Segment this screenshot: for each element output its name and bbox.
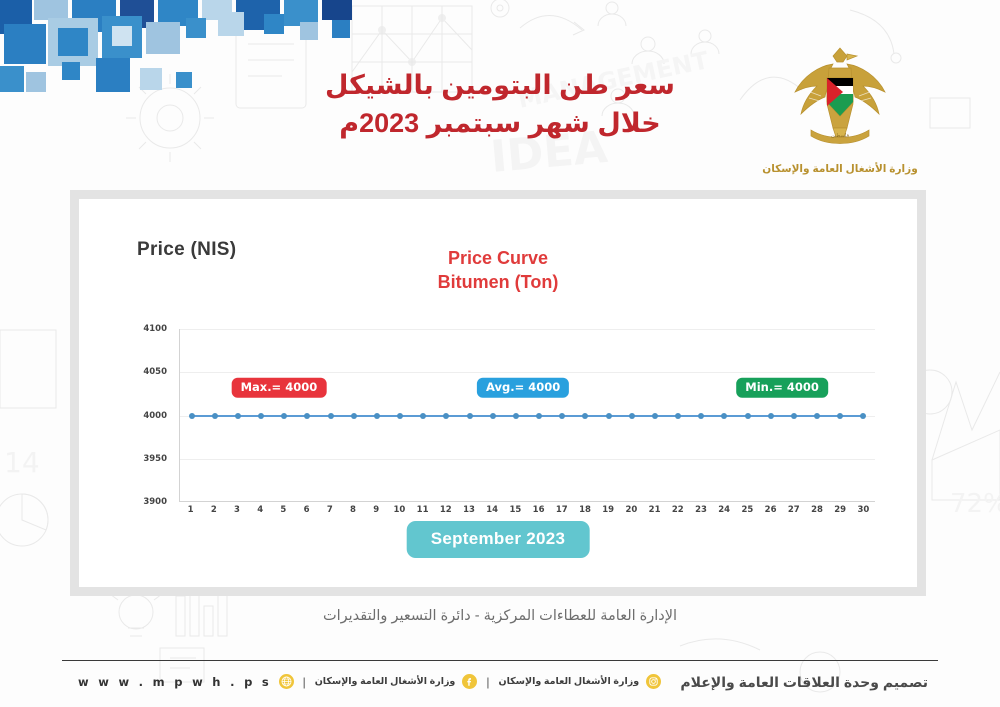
y-axis-tick-labels: 39003950400040504100 [135,329,171,502]
svg-text:72%: 72% [950,489,1000,519]
chart-title: Price Curve Bitumen (Ton) [79,247,917,295]
y-tick-3900: 3900 [143,497,167,507]
facebook-icon[interactable] [462,674,477,689]
x-tick-1: 1 [188,505,194,515]
data-point-20[interactable] [629,413,635,419]
badge-avg: Avg.= 4000 [477,377,569,398]
data-point-30[interactable] [860,413,866,419]
data-point-23[interactable] [698,413,704,419]
instagram-icon[interactable] [646,674,661,689]
website-url[interactable]: w w w . m p w h . p s [78,675,272,689]
badge-max: Max.= 4000 [232,377,327,398]
x-tick-23: 23 [695,505,707,515]
x-tick-9: 9 [373,505,379,515]
data-point-19[interactable] [606,413,612,419]
x-tick-19: 19 [602,505,614,515]
data-point-17[interactable] [559,413,565,419]
x-tick-8: 8 [350,505,356,515]
gridline-3950 [180,459,875,460]
y-tick-4000: 4000 [143,411,167,421]
chart-card: Price (NIS) Price Curve Bitumen (Ton) 39… [70,190,926,596]
page-footer: w w w . m p w h . p s | وزارة الأشغال ال… [0,660,1000,707]
data-point-9[interactable] [374,413,380,419]
facebook-glyph [464,676,475,687]
chart-card-inner: Price (NIS) Price Curve Bitumen (Ton) 39… [79,199,917,587]
globe-icon[interactable] [279,674,294,689]
globe-glyph [281,676,292,687]
x-tick-15: 15 [509,505,521,515]
y-tick-3950: 3950 [143,454,167,464]
plot-area [179,329,875,502]
data-point-8[interactable] [351,413,357,419]
footer-separator-2: | [484,675,491,689]
page-title: سعر طن البتومين بالشيكل خلال شهر سبتمبر … [300,66,700,143]
chart-title-line-1: Price Curve [79,247,917,271]
x-tick-6: 6 [304,505,310,515]
data-point-29[interactable] [837,413,843,419]
x-tick-22: 22 [672,505,684,515]
data-point-24[interactable] [721,413,727,419]
data-point-21[interactable] [652,413,658,419]
data-point-13[interactable] [467,413,473,419]
ministry-emblem: فلسطين وزارة الأشغال العامة والإسكان [752,44,928,190]
svg-text:14: 14 [4,446,40,479]
svg-text:فلسطين: فلسطين [831,133,850,139]
x-tick-5: 5 [280,505,286,515]
x-tick-24: 24 [718,505,730,515]
data-point-1[interactable] [189,413,195,419]
footer-divider [62,660,938,661]
data-point-11[interactable] [420,413,426,419]
x-tick-17: 17 [556,505,568,515]
data-point-26[interactable] [768,413,774,419]
plot-wrapper: 39003950400040504100 1234567891011121314… [135,329,875,514]
x-tick-10: 10 [393,505,405,515]
data-point-16[interactable] [536,413,542,419]
instagram-label[interactable]: وزارة الأشغال العامة والإسكان [498,676,639,687]
x-tick-4: 4 [257,505,263,515]
data-point-3[interactable] [235,413,241,419]
month-badge: September 2023 [407,521,590,558]
data-point-18[interactable] [582,413,588,419]
data-point-5[interactable] [281,413,287,419]
x-tick-7: 7 [327,505,333,515]
badge-min: Min.= 4000 [736,377,828,398]
x-tick-12: 12 [440,505,452,515]
x-tick-25: 25 [741,505,753,515]
facebook-label[interactable]: وزارة الأشغال العامة والإسكان [315,676,456,687]
data-point-27[interactable] [791,413,797,419]
data-point-10[interactable] [397,413,403,419]
poster-header: سعر طن البتومين بالشيكل خلال شهر سبتمبر … [0,0,1000,190]
x-tick-21: 21 [649,505,661,515]
x-tick-27: 27 [788,505,800,515]
data-point-15[interactable] [513,413,519,419]
x-tick-11: 11 [417,505,429,515]
page-title-line-1: سعر طن البتومين بالشيكل [300,66,700,104]
emblem-ministry-name: وزارة الأشغال العامة والإسكان [752,163,928,175]
x-tick-2: 2 [211,505,217,515]
x-tick-28: 28 [811,505,823,515]
page-title-line-2: خلال شهر سبتمبر 2023م [300,104,700,142]
x-tick-3: 3 [234,505,240,515]
data-point-25[interactable] [745,413,751,419]
x-tick-20: 20 [625,505,637,515]
y-tick-4050: 4050 [143,367,167,377]
gridline-4100 [180,329,875,330]
data-point-2[interactable] [212,413,218,419]
footer-social-links: w w w . m p w h . p s | وزارة الأشغال ال… [78,674,661,689]
chart-title-line-2: Bitumen (Ton) [79,271,917,295]
poster-page: IDEA MANAGEMENT $ 72% 14 [0,0,1000,707]
data-point-28[interactable] [814,413,820,419]
x-tick-16: 16 [533,505,545,515]
y-tick-4100: 4100 [143,324,167,334]
design-credit: تصميم وحدة العلاقات العامة والإعلام [680,674,928,691]
department-caption: الإدارة العامة للعطاءات المركزية - دائرة… [0,608,1000,624]
x-tick-26: 26 [765,505,777,515]
x-tick-14: 14 [486,505,498,515]
x-tick-13: 13 [463,505,475,515]
data-point-14[interactable] [490,413,496,419]
series-line [192,415,864,417]
x-tick-18: 18 [579,505,591,515]
data-point-22[interactable] [675,413,681,419]
data-point-6[interactable] [304,413,310,419]
gridline-4050 [180,372,875,373]
footer-separator-1: | [301,675,308,689]
palestine-eagle-emblem-icon: فلسطين [785,44,895,156]
x-tick-30: 30 [857,505,869,515]
x-tick-29: 29 [834,505,846,515]
data-point-12[interactable] [443,413,449,419]
instagram-glyph [648,676,659,687]
data-point-7[interactable] [328,413,334,419]
data-point-4[interactable] [258,413,264,419]
